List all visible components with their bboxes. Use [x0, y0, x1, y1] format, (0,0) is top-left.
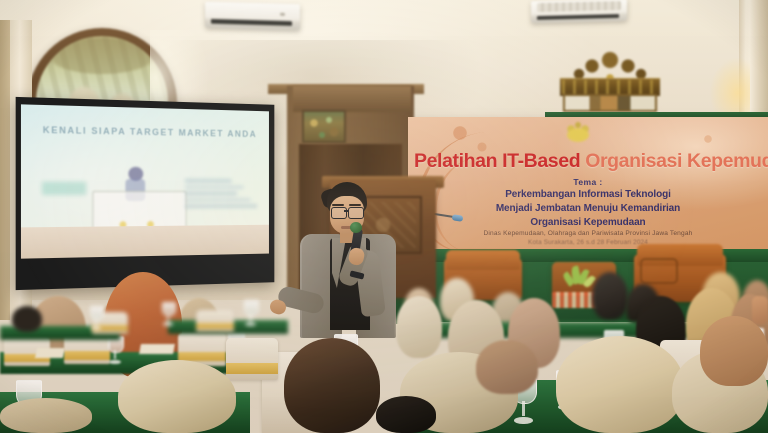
- audience-head: [12, 306, 42, 332]
- audience-head: [476, 340, 538, 394]
- chair-sash: [196, 323, 234, 329]
- screen-lower-band: [21, 225, 269, 259]
- audience-chair: [226, 338, 278, 380]
- speaker-eyebrow-left: [332, 204, 344, 206]
- stemmed-water-goblet: [108, 336, 122, 364]
- goblet-bowl: [162, 302, 176, 316]
- banner-title-part2: IT-Based: [502, 150, 585, 172]
- banner-title-part3: Organisasi Kepemudaan: [585, 150, 768, 172]
- eyeglasses-bridge: [344, 210, 349, 212]
- goblet-base: [109, 360, 120, 364]
- audience-head: [556, 336, 684, 433]
- goblet-base: [91, 326, 101, 330]
- ac-vent: [537, 14, 620, 20]
- banner-theme-line-2: Menjadi Jembatan Menuju Kemandirian: [408, 202, 768, 216]
- goblet-base: [245, 322, 255, 326]
- slide-bullet-line: [184, 192, 237, 194]
- chair-sash: [64, 351, 110, 359]
- crest-foliage: [568, 48, 652, 82]
- stemmed-water-goblet: [90, 306, 102, 330]
- audience-head: [0, 398, 92, 433]
- stemmed-water-goblet: [162, 302, 174, 326]
- slide-bullet-line: [184, 179, 231, 182]
- raised-hand: [752, 296, 768, 324]
- banner-title-part1: Pelatihan: [414, 150, 502, 172]
- speaker-eyebrow-right: [349, 204, 361, 206]
- air-conditioner-unit: [205, 2, 300, 31]
- handheld-microphone-head: [350, 222, 362, 233]
- banner-theme-block: Perkembangan Informasi Teknologi Menjadi…: [408, 188, 768, 229]
- sofa-backrest: [446, 250, 520, 270]
- audience-head: [592, 272, 628, 320]
- goblet-stem: [95, 318, 97, 326]
- audience-chair: [196, 310, 234, 332]
- slide-bullet-line: [184, 198, 251, 201]
- goblet-base: [163, 322, 173, 326]
- goblet-stem: [249, 313, 251, 321]
- crest-mirror-inlay: [563, 94, 657, 112]
- goblet-stem: [522, 401, 526, 416]
- slide-bullet-line: [184, 186, 243, 189]
- ac-indicator-light: [280, 13, 285, 16]
- ac-vent: [211, 19, 293, 26]
- paper-handout: [139, 344, 175, 354]
- projection-screen-frame: KENALI SIAPA TARGET MARKET ANDA: [16, 97, 275, 290]
- banner-organizer: Dinas Kepemudaan, Olahraga dan Pariwisat…: [408, 229, 768, 239]
- banner-theme-line-1: Perkembangan Informasi Teknologi: [408, 188, 768, 202]
- sofa-wood-frame: [640, 258, 678, 284]
- goblet-bowl: [90, 306, 104, 320]
- audience-head: [700, 316, 768, 386]
- seminar-photograph: Pelatihan IT-Based Organisasi Kepemudaan…: [0, 0, 768, 433]
- goblet-base: [514, 417, 532, 424]
- eyeglasses-lens-right: [348, 207, 364, 219]
- goblet-stem: [167, 314, 169, 322]
- banner-title: Pelatihan IT-Based Organisasi Kepemudaan: [414, 150, 768, 173]
- audience-head: [284, 338, 380, 433]
- door-transom: [293, 86, 411, 112]
- chair-sash: [226, 363, 278, 374]
- slide-badge: [42, 182, 86, 196]
- stemmed-water-goblet: [244, 300, 257, 326]
- event-backdrop-banner: Pelatihan IT-Based Organisasi Kepemudaan…: [408, 117, 768, 265]
- paper-handout: [35, 348, 65, 358]
- goblet-stem: [114, 350, 116, 359]
- door-carved-panel: [302, 110, 346, 143]
- jawa-tengah-provincial-emblem: [560, 118, 596, 146]
- air-conditioner-unit: [531, 0, 627, 23]
- slide-bullet-lines: [184, 179, 259, 211]
- slide-bullet-line: [184, 205, 257, 208]
- audience-head: [376, 396, 436, 433]
- audience-head: [396, 296, 442, 358]
- banner-tema-label: Tema :: [408, 177, 768, 187]
- audience-head: [118, 360, 236, 433]
- javanese-carved-wood-crest: [560, 48, 660, 120]
- ac-grille: [537, 1, 622, 12]
- projection-screen: KENALI SIAPA TARGET MARKET ANDA: [21, 104, 269, 258]
- eyeglasses-lens-left: [331, 207, 347, 219]
